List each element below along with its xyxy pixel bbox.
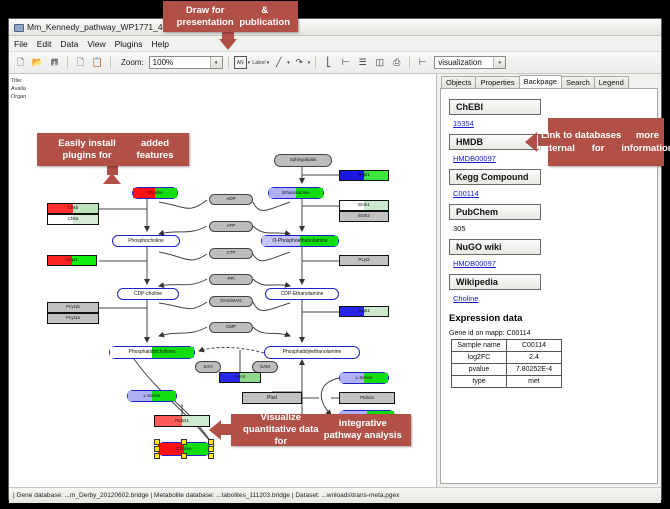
datanode-icon[interactable]: AN (234, 56, 247, 69)
status-text: | Gene database: ...m_Derby_20120602.bri… (13, 492, 399, 499)
app-icon (13, 22, 23, 32)
node-label: SAH (203, 365, 212, 370)
gene-node-chkb[interactable]: Chkb (47, 203, 99, 214)
interaction-icon[interactable]: ↷ (292, 55, 307, 70)
db-header-pubchem: PubChem (449, 204, 541, 220)
db-header-kegg-compound: Kegg Compound (449, 169, 541, 185)
pathway-canvas[interactable]: Title: Availa Organ (9, 74, 437, 487)
node-label: Pcyt2 (358, 258, 369, 263)
data-half-right (364, 171, 388, 180)
data-half-right (72, 256, 96, 265)
metabolite-node-cmp[interactable]: CMP (209, 322, 253, 333)
data-half-right (364, 373, 388, 383)
gene-node-pcyt1a[interactable]: Pcyt1a (47, 313, 99, 324)
data-half-right (73, 215, 98, 224)
toolbar: 🗋 📂 🖪 🗋 📋 Zoom: 100% ▾ AN ▾ Label ▾ ╱ ▾ … (9, 52, 661, 74)
menu-item-view[interactable]: View (87, 39, 105, 49)
db-value-wikipedia[interactable]: Choline (453, 294, 657, 303)
callout-draw-arrow (219, 39, 237, 50)
node-label: ATP (227, 224, 235, 229)
table-row: pvalue7.80252E-4 (452, 364, 562, 376)
new-file-icon[interactable]: 🗋 (13, 55, 28, 70)
expression-table: Sample nameC00114log2FC2.4pvalue7.80252E… (451, 339, 562, 388)
pathvisio-window: Mm_Kennedy_pathway_WP1771_45176.gpml Fil… (8, 18, 662, 500)
print-icon[interactable]: ⎙ (389, 55, 404, 70)
data-half-left (269, 188, 296, 198)
node-label: CMP (226, 325, 236, 330)
data-half-left (110, 347, 152, 358)
node-label: CTP (227, 251, 236, 256)
toolbar-separator-1 (67, 56, 68, 69)
db-header-chebi: ChEBI (449, 99, 541, 115)
data-half-right (300, 236, 338, 246)
data-half-left (340, 307, 364, 316)
metabolite-node-ctp[interactable]: CTP (209, 248, 253, 259)
table-row: log2FC2.4 (452, 352, 562, 364)
metabolite-node-atp[interactable]: ATP (209, 221, 253, 232)
selection-handle[interactable] (154, 446, 160, 452)
datanode-tool[interactable]: AN ▾ (234, 56, 251, 69)
callout-links-arrow (525, 132, 537, 152)
metabolite-node-ppi[interactable]: PPi (209, 274, 253, 285)
callout-visualize-arrow (209, 420, 221, 440)
tab-backpage[interactable]: Backpage (519, 75, 562, 88)
tab-search[interactable]: Search (561, 76, 595, 88)
toolbar-separator-2 (110, 56, 111, 69)
menu-item-data[interactable]: Data (60, 39, 78, 49)
selection-handle[interactable] (181, 439, 187, 445)
node-label: Pisd (267, 396, 277, 401)
selection-handle[interactable] (154, 439, 160, 445)
metabolite-node-choline-top[interactable]: Choline (132, 187, 178, 199)
chevron-down-icon[interactable]: ▾ (308, 60, 311, 66)
title-bar: Mm_Kennedy_pathway_WP1771_45176.gpml (9, 19, 661, 36)
stack-icon[interactable]: ☰ (355, 55, 370, 70)
data-half-left (340, 201, 364, 210)
metabolite-node-cdp-ethanolamine[interactable]: CDP-Ethanolamine (265, 288, 339, 300)
data-half-right (364, 201, 388, 210)
zoom-combobox[interactable]: 100% ▾ (149, 56, 223, 69)
data-half-left (220, 373, 240, 382)
expression-data-title: Expression data (449, 313, 657, 324)
metabolite-node-ethanolamine[interactable]: Ethanolamine (268, 187, 324, 199)
expression-row-value: C00114 (507, 340, 562, 352)
chevron-down-icon[interactable]: ▾ (287, 60, 290, 66)
selection-handle[interactable] (154, 453, 160, 459)
node-label: Pcyt1b (66, 305, 80, 310)
toolbar-separator-4 (315, 56, 316, 69)
metabolite-node-l-serine-right[interactable]: L-Serine (339, 372, 389, 384)
expression-row-value: met (507, 376, 562, 388)
data-half-left (340, 373, 364, 383)
toolbar-separator-3 (228, 56, 229, 69)
save-file-icon[interactable]: 🖪 (47, 55, 62, 70)
metabolite-node-l-serine-left[interactable]: L-Serine (127, 390, 177, 402)
db-value-kegg-compound[interactable]: C00114 (453, 189, 657, 198)
table-row: typemet (452, 376, 562, 388)
tab-legend[interactable]: Legend (594, 76, 629, 88)
db-value-pubchem: 305 (453, 224, 657, 233)
expression-row-name: type (452, 376, 507, 388)
side-panel-tabs: Objects Properties Backpage Search Legen… (437, 74, 661, 88)
toolbar-separator-5 (409, 56, 410, 69)
legend-icon[interactable]: ⊢ (415, 55, 430, 70)
gene-node-cept1[interactable]: Cept1 (339, 306, 389, 317)
line-tool[interactable]: ╱ ▾ (271, 55, 290, 70)
expression-row-value: 2.4 (507, 352, 562, 364)
data-half-right (152, 347, 194, 358)
line-icon[interactable]: ╱ (271, 55, 286, 70)
data-half-left (133, 188, 155, 198)
expression-row-name: Sample name (452, 340, 507, 352)
db-header-wikipedia: Wikipedia (449, 274, 541, 290)
metabolite-node-sphingolipids[interactable]: Sphingolipids (274, 154, 332, 167)
expression-row-name: log2FC (452, 352, 507, 364)
expression-row-value: 7.80252E-4 (507, 364, 562, 376)
chevron-down-icon[interactable]: ▾ (493, 57, 505, 68)
db-value-nugo-wiki[interactable]: HMDB00097 (453, 259, 657, 268)
gene-id-label: Gene id on mapp: C00114 (449, 330, 657, 337)
data-half-left (155, 416, 182, 426)
zoom-value: 100% (153, 58, 173, 67)
gene-node-etnk1[interactable]: Etnk1 (339, 200, 389, 211)
node-label: PPi (227, 277, 234, 282)
menu-item-plugins[interactable]: Plugins (115, 39, 143, 49)
table-row: Sample nameC00114 (452, 340, 562, 352)
node-label: Sphingolipids (290, 158, 317, 163)
tab-objects[interactable]: Objects (441, 76, 476, 88)
data-half-left (340, 171, 364, 180)
zoom-label: Zoom: (121, 58, 144, 67)
align-icon[interactable]: ⎣ (321, 55, 336, 70)
node-label: CDP-Ethanolamine (281, 292, 324, 297)
bring-to-front-icon[interactable]: ⊢ (338, 55, 353, 70)
node-label: Ptdss2 (360, 396, 374, 401)
gene-node-sgpl1[interactable]: Sgpl1 (339, 170, 389, 181)
data-half-left (48, 215, 73, 224)
data-half-left (128, 391, 152, 401)
node-label: CDP-choline (134, 292, 162, 297)
metabolite-node-ophospho[interactable]: O-Phosphoethanolamine (261, 235, 339, 247)
gene-node-etnk2[interactable]: Etnk2 (339, 211, 389, 222)
callout-plugins: Easily install plugins foradded features (37, 133, 189, 166)
open-file-icon[interactable]: 📂 (30, 55, 45, 70)
data-half-right (296, 188, 323, 198)
data-half-right (240, 373, 260, 382)
node-label: Phosphatidylethanolamine (283, 350, 342, 355)
node-label: ADP (226, 197, 235, 202)
node-label: DAG/MAG (220, 299, 241, 304)
data-half-right (364, 307, 388, 316)
selection-handle[interactable] (208, 453, 214, 459)
visualization-value: visualization (438, 58, 482, 67)
menu-item-file[interactable]: File (14, 39, 28, 49)
selection-handle[interactable] (181, 453, 187, 459)
menu-bar: File Edit Data View Plugins Help (9, 36, 661, 52)
status-bar: | Gene database: ...m_Derby_20120602.bri… (9, 487, 661, 503)
data-half-left (48, 204, 73, 213)
node-label: Etnk2 (358, 214, 370, 219)
label-tool-label: Label (252, 60, 265, 66)
data-half-left (48, 256, 72, 265)
gene-node-ptdss1[interactable]: Ptdss1 (154, 415, 210, 427)
label-tool[interactable]: Label ▾ (252, 60, 269, 66)
metabolite-node-phosphatidylcholines[interactable]: Phosphatidylcholines (109, 346, 195, 359)
paste-icon[interactable]: 📋 (90, 55, 105, 70)
node-label: SAM (260, 365, 270, 370)
chevron-down-icon[interactable]: ▾ (267, 60, 270, 66)
data-half-right (182, 416, 209, 426)
metabolite-node-dagmag[interactable]: DAG/MAG (209, 296, 253, 307)
gene-node-chka[interactable]: Chka (47, 214, 99, 225)
visualization-combobox[interactable]: visualization ▾ (434, 56, 506, 69)
menu-item-edit[interactable]: Edit (37, 39, 52, 49)
distribute-icon[interactable]: ◫ (372, 55, 387, 70)
db-header-nugo-wiki: NuGO wiki (449, 239, 541, 255)
gene-node-chpt1[interactable]: Chpt1 (47, 255, 97, 266)
node-label: Pcyt1a (66, 316, 80, 321)
metabolite-node-phosphatidylethanolamine[interactable]: Phosphatidylethanolamine (264, 346, 360, 359)
tab-properties[interactable]: Properties (475, 76, 519, 88)
data-half-right (184, 443, 210, 455)
chevron-down-icon[interactable]: ▾ (210, 57, 222, 68)
gene-node-pcyt1b[interactable]: Pcyt1b (47, 302, 99, 313)
gene-node-pcyt2[interactable]: Pcyt2 (339, 255, 389, 266)
callout-plugins-arrow (103, 173, 121, 184)
callout-links: Link to externaldatabases formore inform… (548, 118, 664, 166)
gene-node-ptdss2[interactable]: Ptdss2 (339, 392, 395, 404)
metabolite-node-adp[interactable]: ADP (209, 194, 253, 205)
data-half-right (152, 391, 176, 401)
metabolite-node-cdp-choline[interactable]: CDP-choline (117, 288, 179, 300)
selection-handle[interactable] (208, 446, 214, 452)
data-half-left (262, 236, 300, 246)
menu-item-help[interactable]: Help (152, 39, 169, 49)
copy-icon[interactable]: 🗋 (73, 55, 88, 70)
data-half-right (73, 204, 98, 213)
callout-draw: Draw for presentation& publication (163, 1, 298, 32)
node-label: Phosphocholine (128, 239, 164, 244)
gene-node-pisd[interactable]: Pisd (242, 392, 302, 404)
data-half-right (155, 188, 177, 198)
metabolite-node-sah[interactable]: SAH (195, 361, 221, 373)
expression-row-name: pvalue (452, 364, 507, 376)
metabolite-node-phosphocholine[interactable]: Phosphocholine (112, 235, 180, 247)
callout-visualize: Visualize quantitative data forintegrati… (231, 414, 411, 446)
chevron-down-icon[interactable]: ▾ (248, 60, 251, 66)
gene-node-pemt[interactable]: Pemt (219, 372, 261, 383)
interaction-tool[interactable]: ↷ ▾ (292, 55, 311, 70)
